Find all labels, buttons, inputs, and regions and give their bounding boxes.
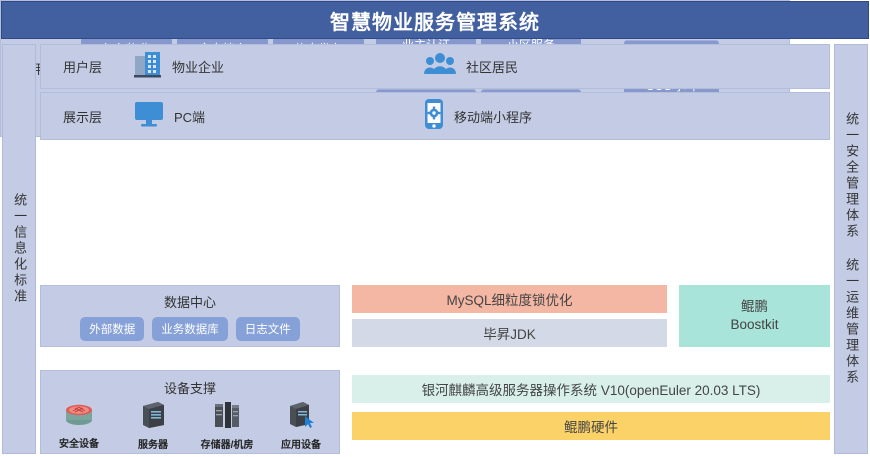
kunpeng-boostkit-panel: 鲲鹏 Boostkit xyxy=(679,285,830,347)
operating-system-bar: 银河麒麟高级服务器操作系统 V10(openEuler 20.03 LTS) xyxy=(352,375,830,403)
server-icon xyxy=(139,401,167,434)
device-item-application: 应用设备 xyxy=(269,401,333,451)
bisheng-jdk-bar: 毕昇JDK xyxy=(352,319,667,347)
app-device-icon xyxy=(286,401,316,434)
data-center-panel: 数据中心 外部数据 业务数据库 日志文件 xyxy=(40,285,340,347)
data-center-title: 数据中心 xyxy=(164,292,216,311)
left-rail-label: 统一信息化标准 xyxy=(12,193,26,305)
display-layer-label: 展示层 xyxy=(41,107,133,126)
building-icon xyxy=(133,50,163,83)
monitor-icon xyxy=(133,100,165,133)
right-rail-label: 统一安全管理体系 统一运维管理体系 xyxy=(844,112,858,386)
hardware-bar: 鲲鹏硬件 xyxy=(352,412,830,440)
display-layer-item-pc: PC端 xyxy=(133,100,423,133)
device-item-application-label: 应用设备 xyxy=(281,436,321,451)
display-layer-band: 展示层 PC端 xyxy=(40,92,830,140)
data-center-chip[interactable]: 日志文件 xyxy=(236,317,300,341)
storage-rack-icon xyxy=(212,401,242,434)
device-item-security-label: 安全设备 xyxy=(59,435,99,450)
display-layer-mobile-label: 移动端小程序 xyxy=(454,107,532,126)
user-layer-residents-label: 社区居民 xyxy=(466,57,518,76)
user-layer-band: 用户层 物业企业 xyxy=(40,44,830,89)
device-item-security: 安全设备 xyxy=(47,401,111,451)
boostkit-line2: Boostkit xyxy=(730,316,778,334)
router-icon xyxy=(61,401,97,433)
data-center-chip[interactable]: 外部数据 xyxy=(80,317,144,341)
display-layer-pc-label: PC端 xyxy=(174,107,205,126)
data-center-chip[interactable]: 业务数据库 xyxy=(152,317,228,341)
device-support-title: 设备支撑 xyxy=(164,378,216,397)
device-support-panel: 设备支撑 安全设备 xyxy=(40,370,340,454)
boostkit-line1: 鲲鹏 xyxy=(741,298,768,316)
mobile-gear-icon xyxy=(423,98,445,135)
left-rail-standards: 统一信息化标准 xyxy=(2,44,36,454)
display-layer-item-mobile: 移动端小程序 xyxy=(423,98,532,135)
user-layer-label: 用户层 xyxy=(41,57,133,76)
people-group-icon xyxy=(423,52,457,81)
device-item-server: 服务器 xyxy=(121,401,185,451)
user-layer-item-residents: 社区居民 xyxy=(423,52,518,81)
user-layer-enterprise-label: 物业企业 xyxy=(172,57,224,76)
user-layer-item-enterprise: 物业企业 xyxy=(133,50,423,83)
page-title: 智慧物业服务管理系统 xyxy=(330,6,540,35)
right-rail-management: 统一安全管理体系 统一运维管理体系 xyxy=(834,44,868,454)
device-item-storage: 存储器/机房 xyxy=(195,401,259,451)
device-item-storage-label: 存储器/机房 xyxy=(201,436,254,451)
device-item-server-label: 服务器 xyxy=(138,436,168,451)
app-header: 智慧物业服务管理系统 xyxy=(1,1,869,39)
mysql-optimization-bar: MySQL细粒度锁优化 xyxy=(352,285,667,313)
diagram-root: 智慧物业服务管理系统 统一信息化标准 统一安全管理体系 统一运维管理体系 用户层 xyxy=(0,0,870,457)
middleware-stack: MySQL细粒度锁优化 毕昇JDK xyxy=(352,285,667,347)
